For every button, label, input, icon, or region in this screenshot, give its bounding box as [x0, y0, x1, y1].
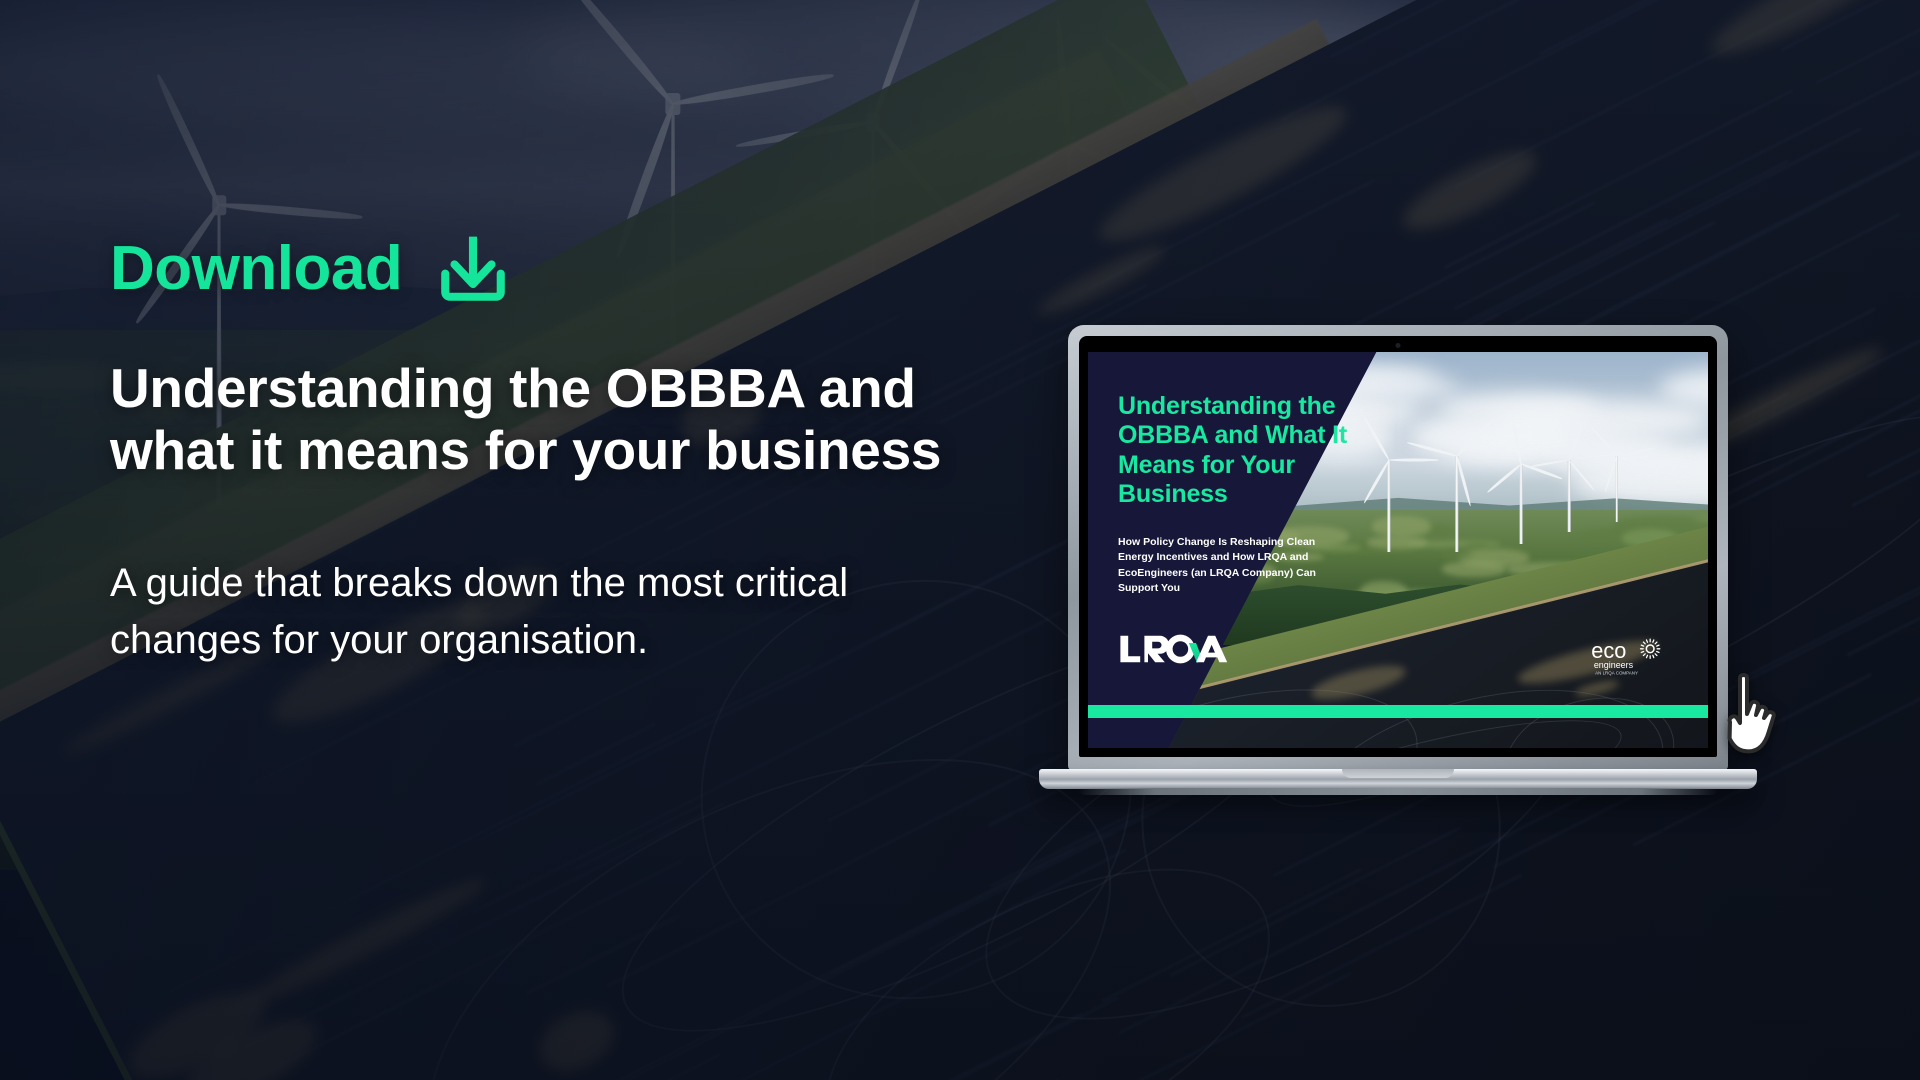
cover-text-block: Understanding the OBBBA and What It Mean…: [1118, 392, 1383, 671]
download-row: Download: [110, 232, 1040, 306]
webcam-icon: [1396, 343, 1401, 348]
cover-turbine: [1456, 456, 1458, 552]
laptop-lid: Understanding the OBBBA and What It Mean…: [1068, 325, 1728, 770]
eco-subtitle: engineers: [1594, 660, 1634, 670]
cover-turbine-tower: [1568, 460, 1571, 532]
cover-turbine: [1520, 464, 1522, 544]
svg-text:eco: eco: [1591, 638, 1626, 663]
download-icon[interactable]: [436, 232, 510, 306]
laptop-base: [1039, 769, 1757, 789]
laptop-foot: [1078, 788, 1718, 795]
promo-content: Download Understanding the OBBBA and wha…: [110, 232, 1040, 670]
cover-turbine: [1616, 456, 1618, 522]
ebook-cover: Understanding the OBBBA and What It Mean…: [1088, 352, 1708, 748]
cover-accent-bar: [1088, 705, 1708, 718]
eco-endorsement: AN LRQA COMPANY: [1595, 670, 1638, 675]
ecoengineers-logo: eco: [1590, 636, 1686, 682]
cover-turbine-tower: [1616, 456, 1618, 522]
laptop-notch: [1342, 769, 1454, 778]
laptop-screen[interactable]: Understanding the OBBBA and What It Mean…: [1079, 336, 1717, 757]
laptop-mockup: Understanding the OBBBA and What It Mean…: [1038, 325, 1758, 789]
cover-turbine-tower: [1520, 464, 1523, 544]
lrqa-logo: [1118, 632, 1238, 666]
cover-turbine: [1388, 460, 1390, 552]
cover-subtitle: How Policy Change Is Reshaping Clean Ene…: [1118, 535, 1340, 596]
cover-turbine-tower: [1387, 460, 1390, 552]
pointing-hand-cursor[interactable]: [1718, 672, 1788, 768]
cover-title: Understanding the OBBBA and What It Mean…: [1118, 392, 1383, 509]
promo-description: A guide that breaks down the most critic…: [110, 555, 910, 669]
cover-turbine-tower: [1455, 456, 1458, 552]
download-eyebrow: Download: [110, 238, 402, 300]
page-title: Understanding the OBBBA and what it mean…: [110, 358, 1030, 481]
cover-turbine-blade: [1389, 459, 1439, 462]
cover-turbine: [1568, 460, 1570, 532]
cover-cloud: [1437, 392, 1597, 426]
